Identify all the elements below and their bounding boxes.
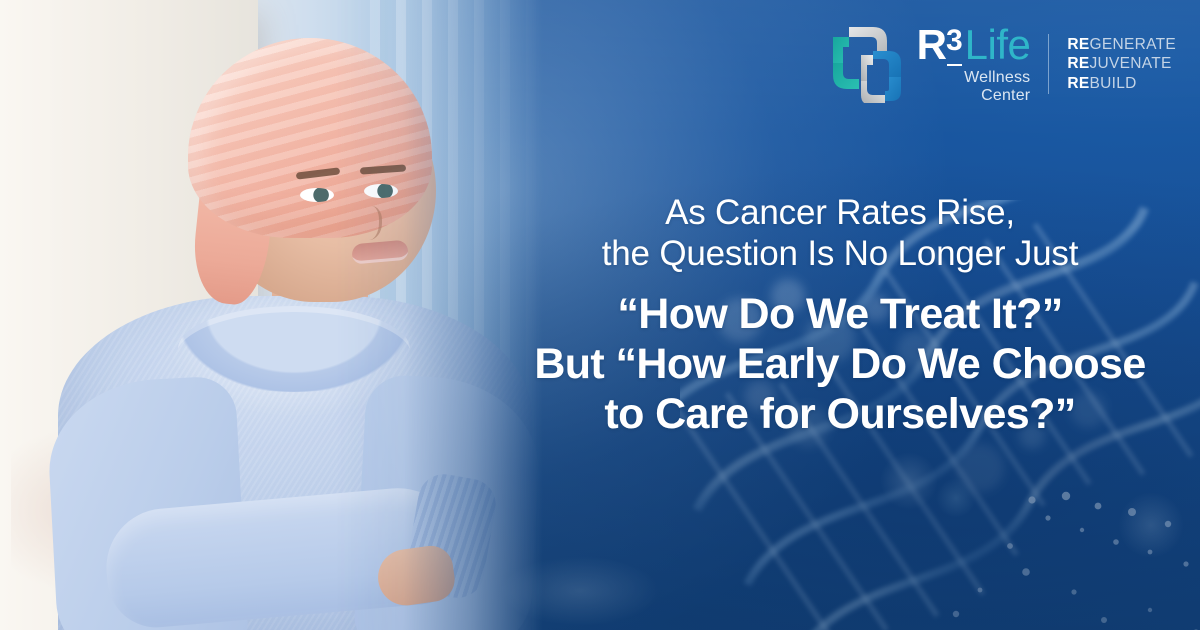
headline-light-line1: As Cancer Rates Rise, <box>500 192 1180 233</box>
r3life-interlocking-links-icon <box>831 25 903 103</box>
headline-light-line2: the Question Is No Longer Just <box>500 233 1180 274</box>
tagline-rejuvenate: REJUVENATE <box>1067 55 1176 73</box>
headline-block: As Cancer Rates Rise, the Question Is No… <box>500 192 1180 439</box>
brand-subtitle: Wellness Center <box>964 69 1030 105</box>
tagline-regenerate: REGENERATE <box>1067 36 1176 54</box>
tagline-rebuild: REBUILD <box>1067 75 1176 93</box>
headline-bold-line3: to Care for Ourselves?” <box>500 389 1180 439</box>
brand-logo[interactable]: R 3 Life Wellness Center REGENERATE REJU… <box>831 24 1176 105</box>
nose <box>356 206 382 240</box>
headline-bold: “How Do We Treat It?” But “How Early Do … <box>500 289 1180 440</box>
woman-figure <box>60 28 530 630</box>
pink-head-scarf <box>188 38 432 238</box>
headline-light: As Cancer Rates Rise, the Question Is No… <box>500 192 1180 275</box>
brand-name-r: R <box>917 24 946 66</box>
brand-name-superscript-wrap: 3 <box>946 35 963 65</box>
headline-bold-line1: “How Do We Treat It?” <box>500 289 1180 339</box>
brand-subtitle-line1: Wellness <box>964 69 1030 87</box>
tagline-rejuvenate-rest: JUVENATE <box>1089 55 1171 72</box>
logo-divider <box>1048 34 1049 94</box>
eye-left <box>300 188 334 202</box>
sweater-collar <box>178 306 410 392</box>
tagline-rebuild-strong: RE <box>1067 75 1089 92</box>
tagline-regenerate-rest: GENERATE <box>1089 36 1176 53</box>
portrait-photo <box>0 0 560 630</box>
brand-wordmark: R 3 Life Wellness Center <box>917 24 1031 105</box>
headline-bold-line2: But “How Early Do We Choose <box>500 339 1180 389</box>
brand-tagline: REGENERATE REJUVENATE REBUILD <box>1067 36 1176 93</box>
brand-name-life: Life <box>965 24 1031 66</box>
brand-subtitle-line2: Center <box>964 87 1030 105</box>
brand-name: R 3 Life <box>917 24 1031 66</box>
brand-name-3: 3 <box>946 24 963 57</box>
eye-right <box>364 184 398 198</box>
tagline-rejuvenate-strong: RE <box>1067 55 1089 72</box>
tagline-regenerate-strong: RE <box>1067 36 1089 53</box>
social-banner: R 3 Life Wellness Center REGENERATE REJU… <box>0 0 1200 630</box>
tagline-rebuild-rest: BUILD <box>1089 75 1136 92</box>
